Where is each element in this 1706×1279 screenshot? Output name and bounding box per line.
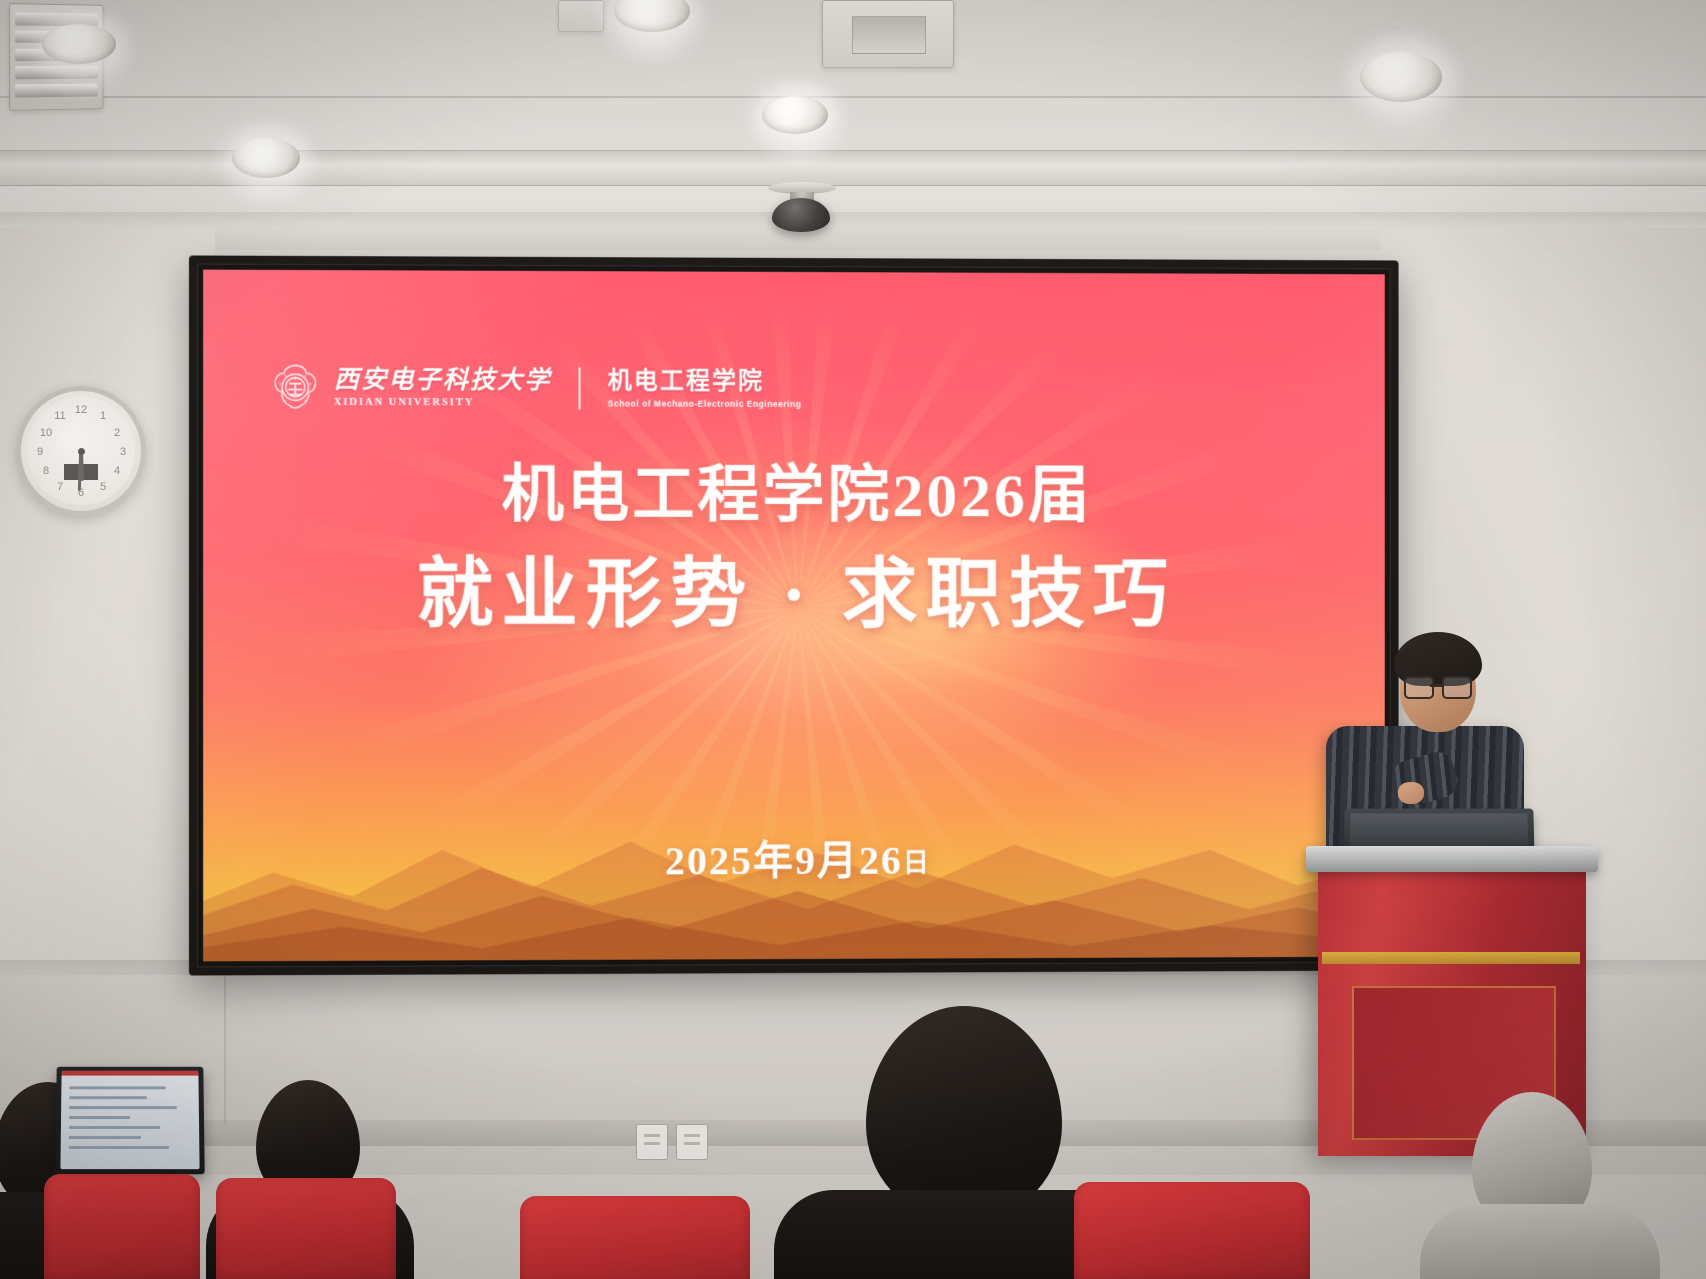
air-vent-center — [822, 0, 954, 68]
clock-numeral: 12 — [73, 404, 89, 416]
downlight-1 — [42, 24, 116, 64]
clock-numeral: 3 — [115, 446, 131, 458]
presenter-glasses-right — [1442, 676, 1472, 699]
seat-4 — [520, 1196, 750, 1279]
lecture-hall-photo: 12 1 2 3 4 5 6 7 8 9 10 11 — [0, 0, 1706, 1279]
clock-center-hub — [78, 448, 85, 455]
school-name-en: School of Mechano-Electronic Engineering — [608, 399, 802, 408]
downlight-5 — [762, 96, 828, 134]
wall-clock: 12 1 2 3 4 5 6 7 8 9 10 11 — [16, 386, 146, 516]
clock-face: 12 1 2 3 4 5 6 7 8 9 10 11 — [27, 397, 135, 505]
clock-numeral: 4 — [109, 465, 125, 477]
seat-2 — [216, 1178, 396, 1279]
clock-numeral: 8 — [38, 465, 54, 477]
slide-title-line1: 机电工程学院2026届 — [203, 457, 1385, 536]
slide-date-unit: 日 — [903, 849, 931, 878]
clock-numeral: 10 — [38, 427, 54, 439]
power-socket-1 — [636, 1124, 668, 1160]
ceiling-dome-camera-icon — [772, 198, 830, 232]
power-socket-2 — [676, 1124, 708, 1160]
university-name-en: XIDIAN UNIVERSITY — [334, 398, 552, 409]
slide-date-number: 2025年9月26 — [665, 838, 903, 884]
school-name-cn: 机电工程学院 — [608, 369, 802, 394]
presenter-glasses-left — [1404, 676, 1434, 699]
clock-numeral: 1 — [95, 410, 111, 422]
presenter-hand — [1398, 782, 1424, 804]
logo-divider — [579, 367, 581, 409]
lectern-gold-trim — [1322, 952, 1580, 964]
presentation-slide: 西安电子科技大学 XIDIAN UNIVERSITY 机电工程学院 School… — [203, 270, 1385, 962]
slide-date: 2025年9月26日 — [203, 827, 1385, 888]
seat-1 — [44, 1174, 200, 1279]
projection-screen: 西安电子科技大学 XIDIAN UNIVERSITY 机电工程学院 School… — [189, 255, 1399, 975]
university-name-block: 西安电子科技大学 XIDIAN UNIVERSITY — [334, 367, 552, 408]
downlight-3 — [1360, 52, 1442, 102]
ceiling-beam-secondary — [0, 212, 1706, 228]
downlight-4 — [232, 138, 300, 178]
clock-numeral: 6 — [73, 487, 89, 499]
xidian-crest-icon — [270, 362, 321, 412]
wall-seam — [224, 974, 226, 1124]
audience-shoulders — [1420, 1204, 1660, 1279]
slide-logo-lockup: 西安电子科技大学 XIDIAN UNIVERSITY 机电工程学院 School… — [270, 362, 801, 414]
school-name-block: 机电工程学院 School of Mechano-Electronic Engi… — [608, 369, 802, 408]
slide-title-block: 机电工程学院2026届 就业形势 · 求职技巧 — [203, 457, 1385, 645]
clock-numeral: 5 — [95, 481, 111, 493]
mountain-range-foreground — [203, 893, 1385, 961]
clock-numeral: 2 — [109, 427, 125, 439]
lectern-top — [1306, 846, 1598, 872]
university-name-cn: 西安电子科技大学 — [334, 367, 552, 393]
audience-laptop[interactable] — [55, 1067, 204, 1174]
clock-numeral: 9 — [32, 446, 48, 458]
seat-3 — [1074, 1182, 1310, 1279]
presenter-glasses-bridge — [1430, 684, 1442, 687]
slide-title-line2: 就业形势 · 求职技巧 — [203, 545, 1385, 644]
audience-laptop-screen — [60, 1071, 199, 1169]
clock-numeral: 11 — [52, 410, 68, 422]
clock-numeral: 7 — [52, 481, 68, 493]
